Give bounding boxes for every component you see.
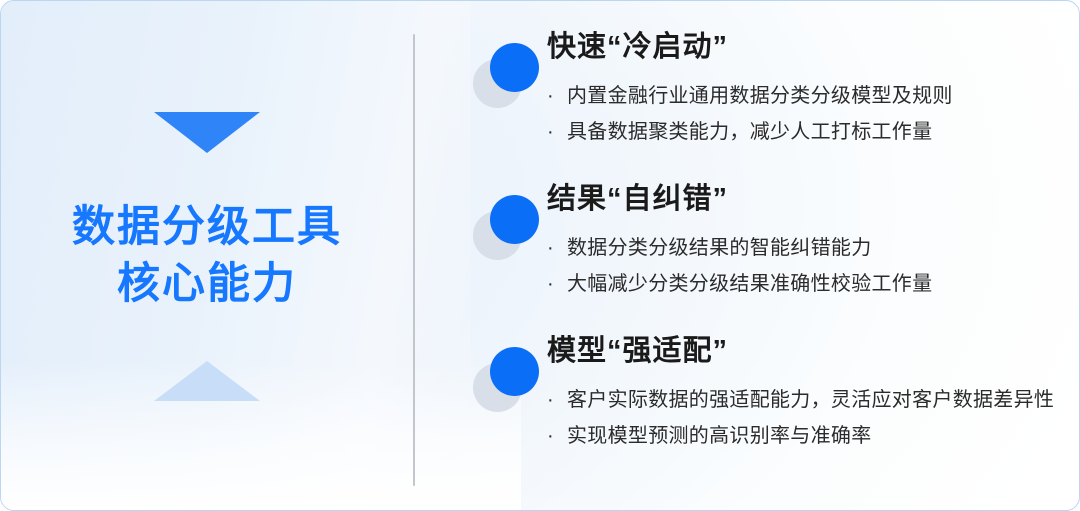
page-title-line-1: 数据分级工具 [72,199,342,256]
list-item: · 内置金融行业通用数据分类分级模型及规则 [545,80,1063,112]
list-bullet-glyph: · [547,420,554,452]
vertical-divider [413,34,415,486]
feature-bullet-list: · 内置金融行业通用数据分类分级模型及规则 · 具备数据聚类能力，减少人工打标工… [545,80,1063,148]
page-title-line-2: 核心能力 [72,256,342,313]
list-bullet-glyph: · [547,268,554,300]
list-item-text: 客户实际数据的强适配能力，灵活应对客户数据差异性 [567,389,1054,411]
feature-list-panel: 快速“冷启动” · 内置金融行业通用数据分类分级模型及规则 · 具备数据聚类能力… [463,29,1063,485]
list-item: · 实现模型预测的高识别率与准确率 [545,420,1063,452]
list-item: · 客户实际数据的强适配能力，灵活应对客户数据差异性 [545,384,1063,416]
bullet-primary-circle [490,347,539,396]
feature-block: 结果“自纠错” · 数据分类分级结果的智能纠错能力 · 大幅减少分类分级结果准确… [463,181,1063,333]
filled-circle-bullet-icon [473,43,539,109]
page-title: 数据分级工具 核心能力 [72,199,342,313]
bullet-primary-circle [490,195,539,244]
list-bullet-glyph: · [547,116,554,148]
feature-heading: 结果“自纠错” [545,181,732,218]
filled-circle-bullet-icon [473,347,539,413]
list-item: · 具备数据聚类能力，减少人工打标工作量 [545,116,1063,148]
feature-block: 快速“冷启动” · 内置金融行业通用数据分类分级模型及规则 · 具备数据聚类能力… [463,29,1063,181]
list-bullet-glyph: · [547,384,554,416]
slide-card: 数据分级工具 核心能力 快速“冷启动” · 内置金融行业通用数据分类分级模型及规… [0,0,1080,511]
feature-block: 模型“强适配” · 客户实际数据的强适配能力，灵活应对客户数据差异性 · 实现模… [463,333,1063,485]
list-item-text: 数据分类分级结果的智能纠错能力 [567,237,872,259]
bullet-primary-circle [490,43,539,92]
feature-bullet-list: · 数据分类分级结果的智能纠错能力 · 大幅减少分类分级结果准确性校验工作量 [545,232,1063,300]
list-bullet-glyph: · [547,232,554,264]
filled-circle-bullet-icon [473,195,539,261]
feature-heading: 模型“强适配” [545,333,732,370]
list-item-text: 内置金融行业通用数据分类分级模型及规则 [567,85,953,107]
list-item-text: 实现模型预测的高识别率与准确率 [567,425,872,447]
triangle-down-icon [154,112,260,153]
list-bullet-glyph: · [547,80,554,112]
feature-bullet-list: · 客户实际数据的强适配能力，灵活应对客户数据差异性 · 实现模型预测的高识别率… [545,384,1063,452]
feature-heading: 快速“冷启动” [545,29,732,66]
list-item: · 数据分类分级结果的智能纠错能力 [545,232,1063,264]
list-item: · 大幅减少分类分级结果准确性校验工作量 [545,268,1063,300]
list-item-text: 大幅减少分类分级结果准确性校验工作量 [567,273,932,295]
list-item-text: 具备数据聚类能力，减少人工打标工作量 [567,121,932,143]
left-title-panel: 数据分级工具 核心能力 [1,1,413,511]
triangle-up-icon [154,361,260,401]
